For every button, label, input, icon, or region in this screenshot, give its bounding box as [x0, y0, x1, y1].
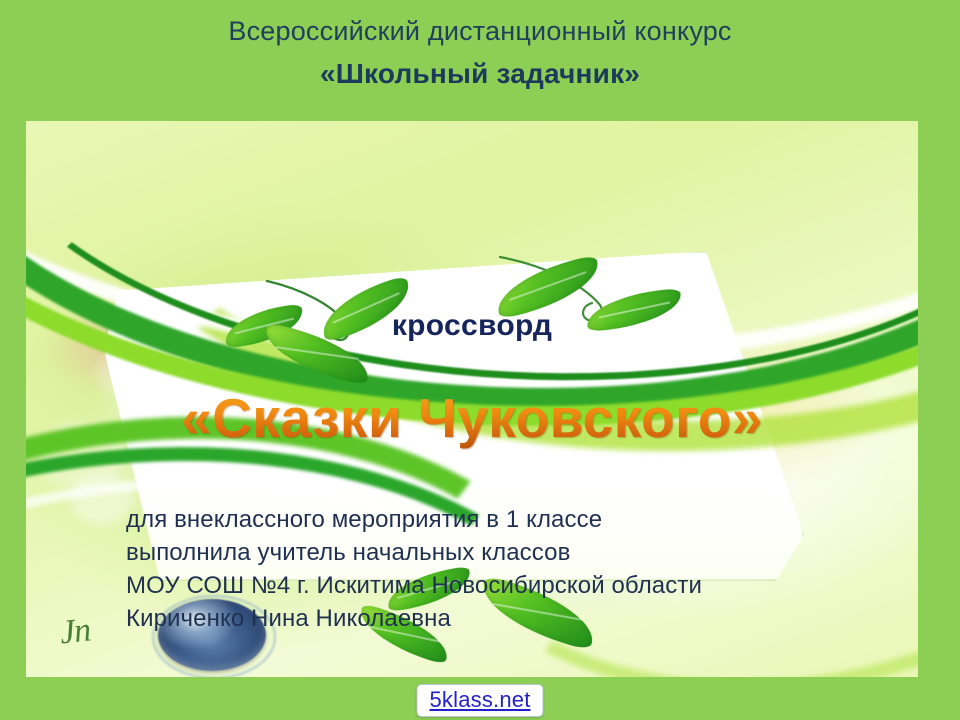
- contest-name-line1: Всероссийский дистанционный конкурс: [0, 16, 960, 47]
- slide-title: «Сказки Чуковского»: [26, 386, 918, 450]
- credit-line: Кириченко Нина Николаевна: [126, 602, 916, 635]
- slide-image: Jn кроссворд «Сказки Чуковского» для вне…: [26, 121, 918, 677]
- credit-line: МОУ СОШ №4 г. Искитима Новосибирской обл…: [126, 569, 916, 602]
- watermark-badge[interactable]: 5klass.net: [416, 684, 543, 717]
- credit-line: для внеклассного мероприятия в 1 классе: [126, 503, 916, 536]
- page-header: Всероссийский дистанционный конкурс «Шко…: [0, 0, 960, 120]
- contest-name-line2: «Школьный задачник»: [0, 58, 960, 90]
- decor-signature-mark: Jn: [58, 612, 92, 653]
- watermark-link[interactable]: 5klass.net: [429, 687, 530, 712]
- credit-line: выполнила учитель начальных классов: [126, 536, 916, 569]
- slide-kind-label: кроссворд: [26, 309, 918, 343]
- slide-credits: для внеклассного мероприятия в 1 классе …: [126, 503, 916, 635]
